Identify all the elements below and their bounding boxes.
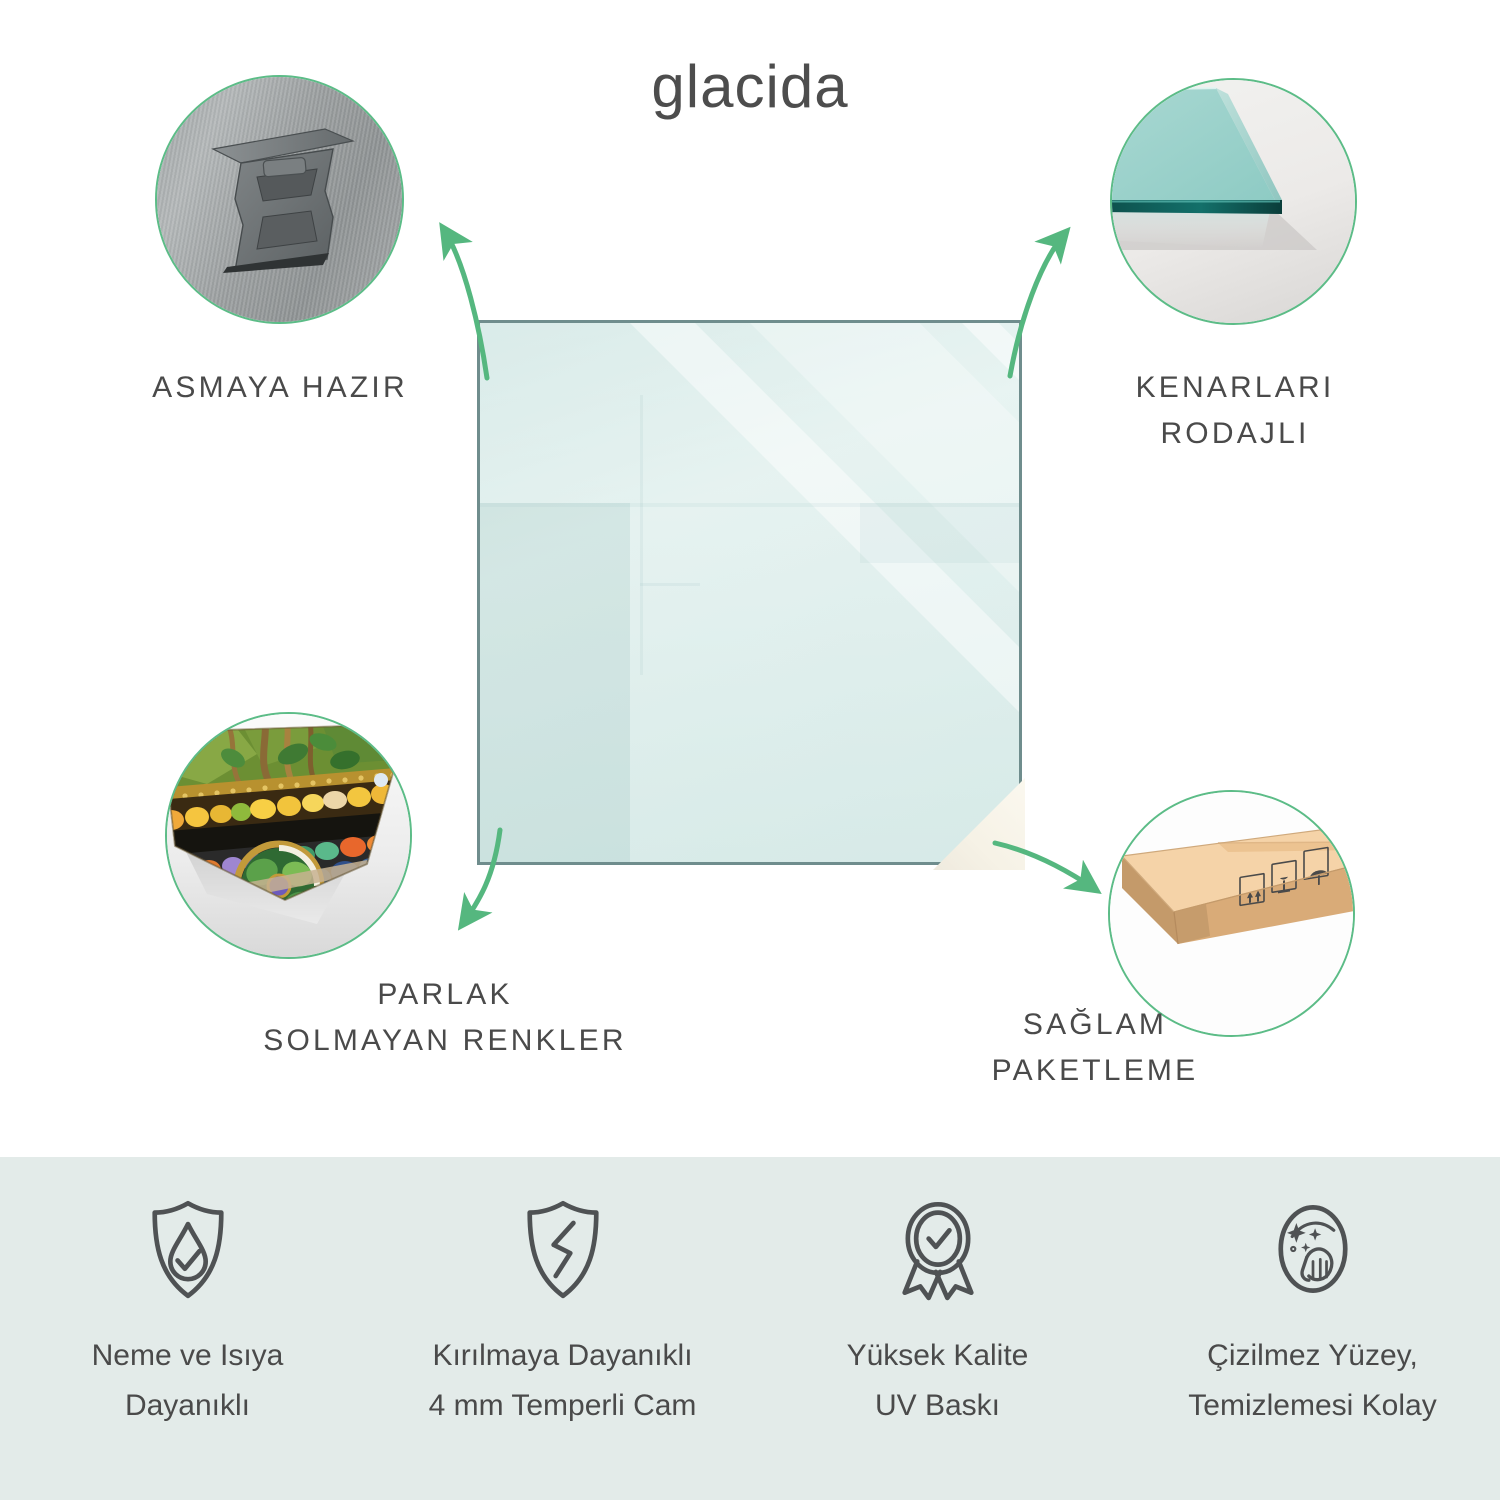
feature-image-ready-to-hang (155, 75, 404, 324)
feature-image-polished-edges (1110, 78, 1357, 325)
stained-glass-artwork-photo (167, 714, 410, 957)
benefit-label: Yüksek Kalite UV Baskı (847, 1331, 1029, 1431)
glass-reflection-shade (480, 503, 630, 865)
mosaic-artwork-illustration (167, 714, 410, 957)
infographic-canvas: glacida (0, 0, 1500, 1500)
cardboard-shipping-box-photo (1110, 792, 1353, 1035)
feature-image-vivid-colors (165, 712, 412, 959)
feature-image-secure-packaging (1108, 790, 1355, 1037)
benefit-item-shatter-resistant: Kırılmaya Dayanıklı 4 mm Temperli Cam (375, 1157, 750, 1500)
benefit-item-high-quality-uv: Yüksek Kalite UV Baskı (750, 1157, 1125, 1500)
glass-surface (477, 320, 1022, 865)
quality-medal-check-icon (886, 1197, 990, 1301)
glass-reflection-line (640, 395, 643, 675)
benefits-bar: Neme ve Isıya Dayanıklı Kırılmaya Dayanı… (0, 1157, 1500, 1500)
benefit-label: Neme ve Isıya Dayanıklı (92, 1331, 284, 1431)
shield-water-drop-check-icon (136, 1197, 240, 1301)
product-glass-panel (477, 320, 1022, 865)
feature-label-ready-to-hang: ASMAYA HAZIR (75, 365, 485, 411)
bracket-illustration (207, 121, 357, 273)
benefit-item-scratch-free: Çizilmez Yüzey, Temizlemesi Kolay (1125, 1157, 1500, 1500)
glass-reflection-line (640, 583, 700, 586)
benefit-label: Kırılmaya Dayanıklı 4 mm Temperli Cam (429, 1331, 697, 1431)
glass-reflection-shade (860, 503, 1022, 563)
sparkle-wiping-hand-icon (1261, 1197, 1365, 1301)
flat-carton-illustration (1110, 792, 1353, 1035)
feature-label-polished-edges: KENARLARI RODAJLI (1070, 365, 1400, 457)
wall-mount-bracket-photo (157, 77, 402, 322)
glass-edge-illustration (1112, 80, 1355, 323)
benefit-item-moisture-heat: Neme ve Isıya Dayanıklı (0, 1157, 375, 1500)
benefit-label: Çizilmez Yüzey, Temizlemesi Kolay (1188, 1331, 1436, 1431)
feature-label-secure-packaging: SAĞLAM PAKETLEME (930, 1002, 1260, 1094)
feature-label-vivid-colors: PARLAK SOLMAYAN RENKLER (240, 972, 650, 1064)
polished-glass-edge-photo (1112, 80, 1355, 323)
shield-lightning-bolt-icon (511, 1197, 615, 1301)
